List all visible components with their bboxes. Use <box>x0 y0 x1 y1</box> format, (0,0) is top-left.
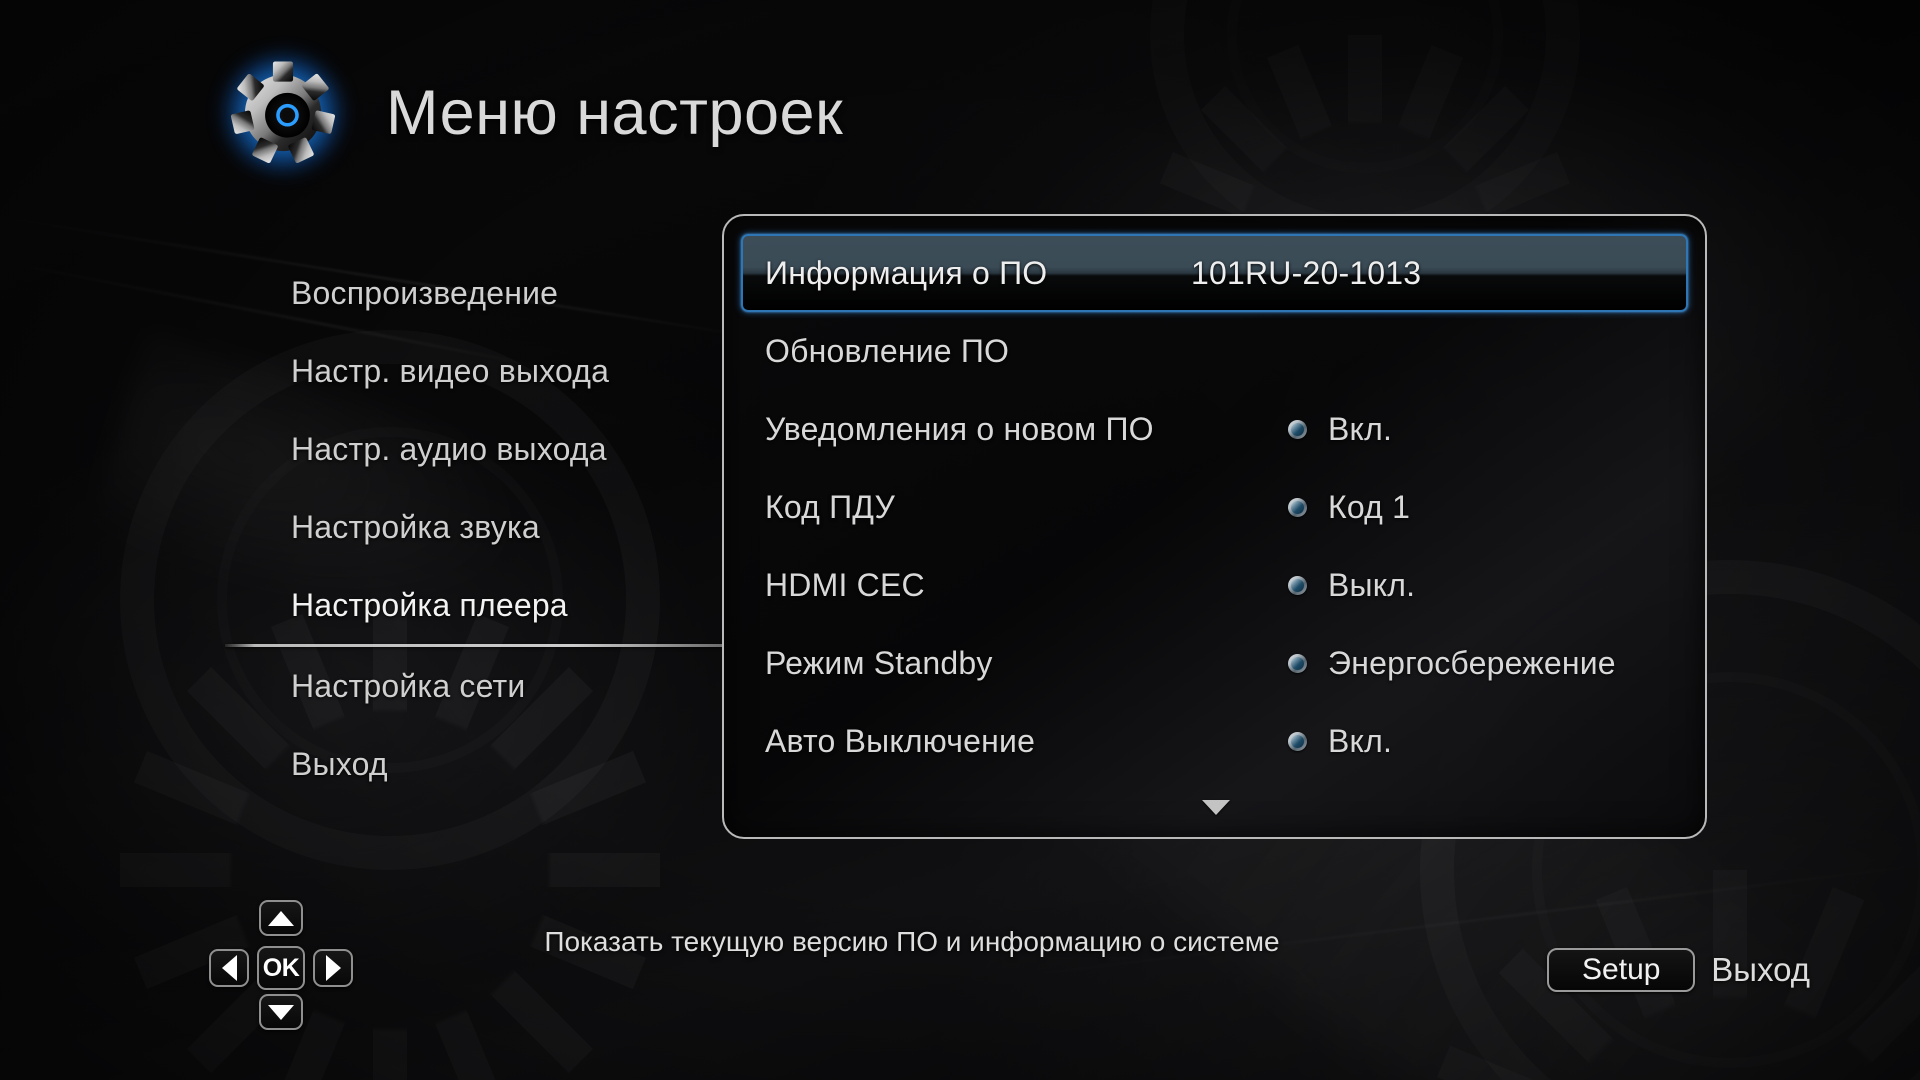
background-gear-top <box>1150 0 1580 250</box>
row-software-information[interactable]: Информация о ПО 101RU-20-1013 <box>741 234 1688 312</box>
exit-legend: Setup Выход <box>1547 948 1810 992</box>
dpad-down-button[interactable] <box>259 994 303 1030</box>
row-value-group: Вкл. <box>1288 723 1392 760</box>
sidebar-item-audio-output[interactable]: Настр. аудио выхода <box>291 410 721 488</box>
arrow-left-icon <box>222 955 237 981</box>
sidebar-item-label: Настройка сети <box>291 668 526 705</box>
bullet-icon <box>1288 420 1307 439</box>
bullet-icon <box>1288 576 1307 595</box>
row-value-group: Вкл. <box>1288 411 1392 448</box>
dpad-ok-button[interactable]: OK <box>257 946 305 990</box>
sidebar-item-label: Настр. видео выхода <box>291 353 609 390</box>
row-hdmi-cec[interactable]: HDMI CEC Выкл. <box>741 546 1688 624</box>
hint-text: Показать текущую версию ПО и информацию … <box>492 926 1332 958</box>
row-value-group: Выкл. <box>1288 567 1415 604</box>
bullet-icon <box>1288 732 1307 751</box>
row-value: 101RU-20-1013 <box>1191 255 1421 292</box>
row-remote-code[interactable]: Код ПДУ Код 1 <box>741 468 1688 546</box>
bullet-icon <box>1288 498 1307 517</box>
sidebar-item-label: Выход <box>291 746 388 783</box>
gear-icon <box>216 46 350 180</box>
row-label: Код ПДУ <box>743 489 895 526</box>
arrow-up-icon <box>268 911 294 926</box>
sidebar-item-label: Воспроизведение <box>291 275 558 312</box>
dpad-legend: OK <box>205 890 353 1038</box>
row-new-software-notifications[interactable]: Уведомления о новом ПО Вкл. <box>741 390 1688 468</box>
bullet-icon <box>1288 654 1307 673</box>
row-value: Код 1 <box>1328 489 1410 526</box>
sidebar-item-video-output[interactable]: Настр. видео выхода <box>291 332 721 410</box>
row-value: Вкл. <box>1328 411 1392 448</box>
arrow-down-icon <box>268 1005 294 1020</box>
arrow-right-icon <box>326 955 341 981</box>
row-label: Уведомления о новом ПО <box>743 411 1154 448</box>
row-value-group: Код 1 <box>1288 489 1410 526</box>
row-software-update[interactable]: Обновление ПО <box>741 312 1688 390</box>
sidebar-item-player-setup[interactable]: Настройка плеера <box>291 566 721 644</box>
gear-icon-svg <box>227 57 339 169</box>
row-auto-power-off[interactable]: Авто Выключение Вкл. <box>741 702 1688 780</box>
row-label: Информация о ПО <box>743 255 1047 292</box>
dpad-up-button[interactable] <box>259 900 303 936</box>
row-standby-mode[interactable]: Режим Standby Энергосбережение <box>741 624 1688 702</box>
row-value: Энергосбережение <box>1328 645 1616 682</box>
dpad-left-button[interactable] <box>209 949 249 987</box>
row-value: Вкл. <box>1328 723 1392 760</box>
chevron-down-icon[interactable] <box>1202 800 1230 815</box>
dpad-right-button[interactable] <box>313 949 353 987</box>
settings-screen: Меню настроек Воспроизведение Настр. вид… <box>0 0 1920 1080</box>
sidebar-item-sound-setup[interactable]: Настройка звука <box>291 488 721 566</box>
sidebar-item-network-setup[interactable]: Настройка сети <box>291 647 721 725</box>
row-label: Авто Выключение <box>743 723 1035 760</box>
setup-button[interactable]: Setup <box>1547 948 1695 992</box>
settings-list: Информация о ПО 101RU-20-1013 Обновление… <box>724 234 1705 780</box>
row-value-group: Энергосбережение <box>1288 645 1616 682</box>
row-label: HDMI CEC <box>743 567 925 604</box>
row-label: Режим Standby <box>743 645 993 682</box>
row-value: Выкл. <box>1328 567 1415 604</box>
sidebar-item-label: Настр. аудио выхода <box>291 431 607 468</box>
page-title: Меню настроек <box>386 82 843 145</box>
exit-label: Выход <box>1711 951 1810 989</box>
row-label: Обновление ПО <box>743 333 1009 370</box>
sidebar-item-label: Настройка плеера <box>291 587 568 624</box>
settings-panel: Информация о ПО 101RU-20-1013 Обновление… <box>722 214 1707 839</box>
row-value-group: 101RU-20-1013 <box>1191 255 1421 292</box>
sidebar-item-label: Настройка звука <box>291 509 540 546</box>
header: Меню настроек <box>216 46 843 180</box>
sidebar-item-exit[interactable]: Выход <box>291 725 721 803</box>
sidebar-item-playback[interactable]: Воспроизведение <box>291 254 721 332</box>
sidebar: Воспроизведение Настр. видео выхода Наст… <box>291 254 721 803</box>
